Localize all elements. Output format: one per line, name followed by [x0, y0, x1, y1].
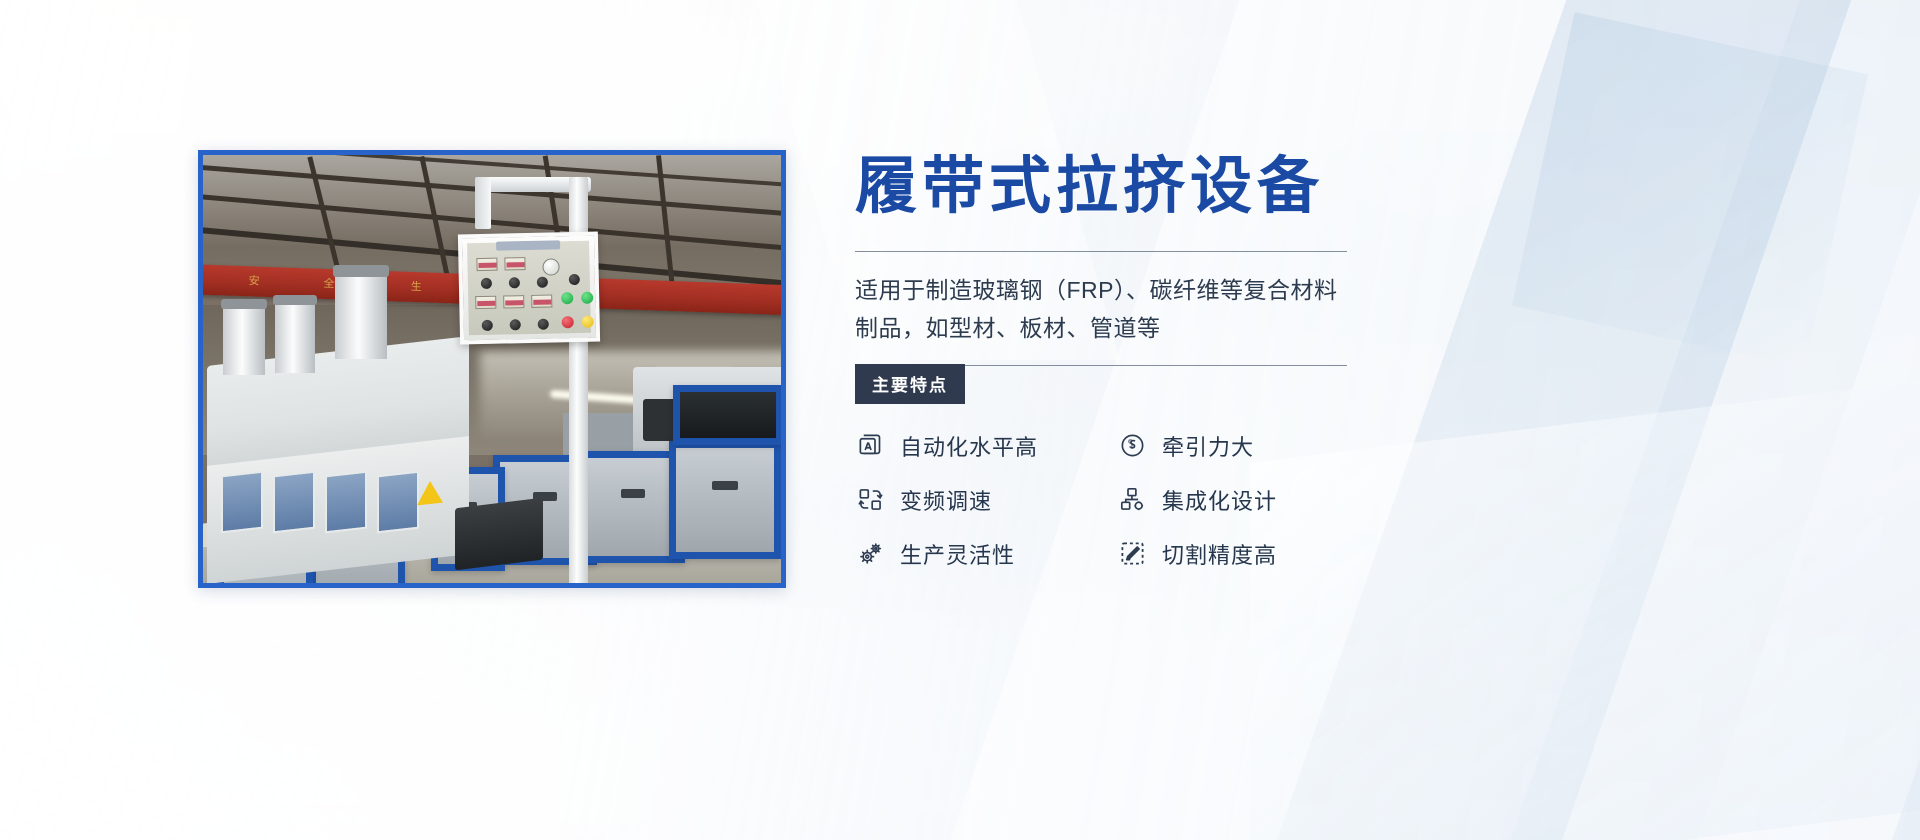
- machine-window: [273, 471, 315, 534]
- machine-window: [377, 471, 419, 534]
- banner-content: 履带式拉挤设备 适用于制造玻璃钢（FRP）、碳纤维等复合材料制品，如型材、板材、…: [855, 152, 1375, 570]
- feature-item-cutting[interactable]: 切割精度高: [1117, 538, 1379, 570]
- feature-item-traction[interactable]: 牵引力大: [1117, 430, 1379, 462]
- warning-triangle-icon: [417, 480, 443, 506]
- features-header: 主要特点: [855, 364, 1347, 398]
- equipment-cabinet: [673, 385, 783, 445]
- cylinder-cap: [221, 299, 267, 309]
- hydraulic-cylinder: [335, 273, 387, 359]
- traction-icon: [1117, 431, 1147, 461]
- machine-window: [221, 471, 263, 534]
- equipment-cabinet: [669, 441, 781, 559]
- hydraulic-cylinder: [223, 305, 265, 375]
- automation-icon: [855, 431, 885, 461]
- feature-item-integration[interactable]: 集成化设计: [1117, 484, 1379, 516]
- feature-label: 牵引力大: [1162, 430, 1254, 462]
- feature-label: 集成化设计: [1162, 484, 1277, 516]
- gears-icon: [855, 539, 885, 569]
- crane-mark: 全: [323, 275, 336, 291]
- product-banner: 安 全 生 产: [0, 0, 1920, 840]
- hydraulic-cylinder: [275, 301, 315, 373]
- feature-item-flexibility[interactable]: 生产灵活性: [855, 538, 1117, 570]
- title-divider: [855, 251, 1347, 252]
- crane-mark: 生: [410, 278, 423, 294]
- crane-mark: 安: [248, 272, 261, 288]
- cylinder-cap: [273, 295, 317, 305]
- status-badge: 主要特点: [855, 364, 965, 404]
- frequency-icon: [855, 485, 885, 515]
- feature-label: 自动化水平高: [900, 430, 1038, 462]
- feature-label: 变频调速: [900, 484, 992, 516]
- integration-icon: [1117, 485, 1147, 515]
- feature-item-automation[interactable]: 自动化水平高: [855, 430, 1117, 462]
- gantry-knee: [475, 177, 491, 229]
- feature-list: 自动化水平高 牵引力大: [855, 430, 1379, 570]
- cutting-icon: [1117, 539, 1147, 569]
- banner-subtitle: 适用于制造玻璃钢（FRP）、碳纤维等复合材料制品，如型材、板材、管道等: [855, 272, 1355, 347]
- page-title: 履带式拉挤设备: [855, 152, 1375, 221]
- product-photo[interactable]: 安 全 生 产: [198, 150, 786, 588]
- machine-die-slot: [455, 498, 543, 571]
- machine-window: [325, 471, 367, 534]
- feature-label: 生产灵活性: [900, 538, 1015, 570]
- feature-label: 切割精度高: [1162, 538, 1277, 570]
- control-panel: [458, 232, 600, 345]
- cylinder-cap: [333, 265, 389, 277]
- feature-item-frequency[interactable]: 变频调速: [855, 484, 1117, 516]
